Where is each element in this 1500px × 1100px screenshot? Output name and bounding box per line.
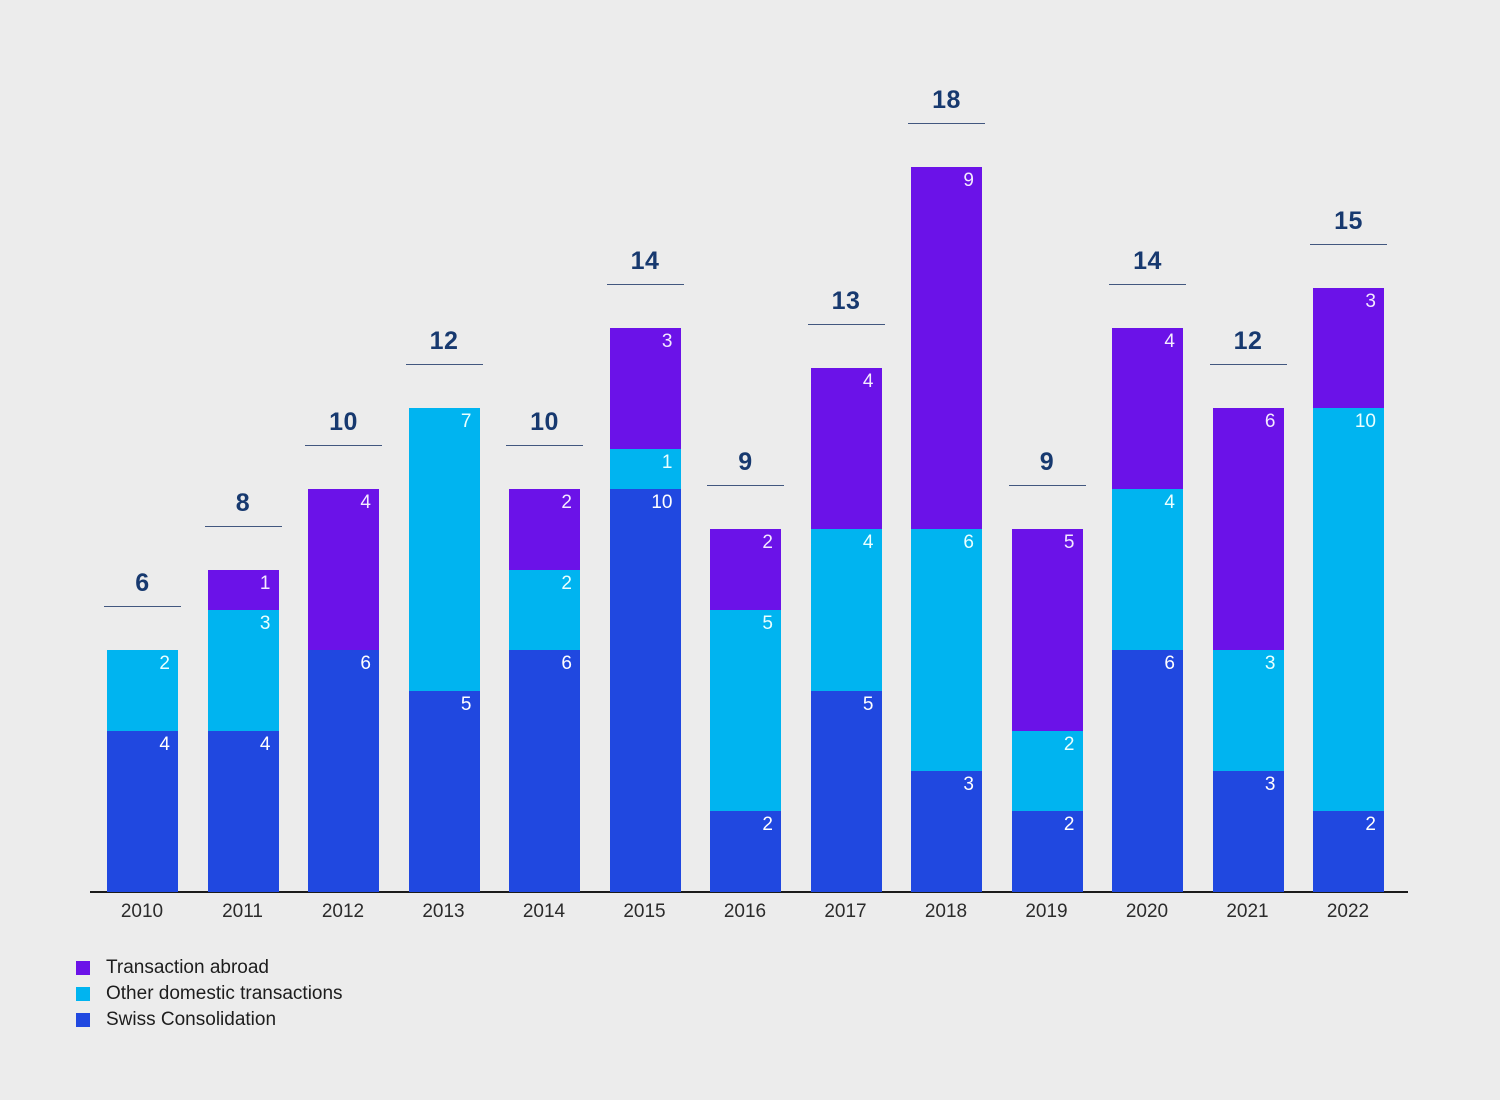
bar-segment-value: 3	[1265, 774, 1276, 796]
x-axis-tick-2013: 2013	[389, 900, 499, 924]
bar-stack: 963	[911, 167, 982, 892]
bar-segment[interactable]: 5	[710, 610, 781, 812]
legend-swatch-icon	[76, 987, 90, 1001]
bar-stack: 75	[409, 408, 480, 892]
bar-segment-value: 6	[963, 532, 974, 554]
bar-total: 9	[700, 448, 791, 486]
x-axis-tick-2020: 2020	[1092, 900, 1202, 924]
bar-segment-value: 10	[651, 492, 672, 514]
bar-segment-value: 6	[1265, 411, 1276, 433]
legend-item-2[interactable]: Swiss Consolidation	[76, 1007, 343, 1033]
bar-segment[interactable]: 6	[308, 650, 379, 892]
bar-total: 9	[1002, 448, 1093, 486]
bar-total-rule	[305, 445, 382, 446]
bar-total-rule	[1210, 364, 1287, 365]
bar-segment-value: 9	[963, 170, 974, 192]
bar-segment[interactable]: 3	[1313, 288, 1384, 409]
bar-total-value: 9	[1002, 448, 1093, 476]
bar-segment-value: 3	[1265, 653, 1276, 675]
bar-total: 10	[298, 408, 389, 446]
bar-segment[interactable]: 4	[308, 489, 379, 650]
bar-segment-value: 2	[1365, 814, 1376, 836]
bar-segment-value: 2	[159, 653, 170, 675]
bar-segment[interactable]: 2	[1012, 731, 1083, 812]
bar-total-value: 10	[499, 408, 590, 436]
legend-swatch-icon	[76, 1013, 90, 1027]
x-axis-tick-2010: 2010	[87, 900, 197, 924]
bar-segment[interactable]: 5	[409, 691, 480, 893]
bar-total-rule	[104, 606, 181, 607]
bar-stack: 3110	[610, 328, 681, 892]
legend-item-0[interactable]: Transaction abroad	[76, 955, 343, 981]
bar-segment-value: 6	[360, 653, 371, 675]
bar-total-rule	[607, 284, 684, 285]
bar-total: 12	[399, 327, 490, 365]
bar-total: 8	[198, 489, 289, 527]
bar-segment-value: 4	[260, 734, 271, 756]
bar-total-rule	[1310, 244, 1387, 245]
bar-segment[interactable]: 2	[710, 529, 781, 610]
bar-total: 12	[1203, 327, 1294, 365]
bar-group-2014[interactable]: 22610	[509, 0, 580, 935]
bar-group-2015[interactable]: 311014	[610, 0, 681, 935]
bar-segment[interactable]: 1	[610, 449, 681, 489]
bar-segment[interactable]: 4	[1112, 489, 1183, 650]
bar-total-value: 15	[1303, 207, 1394, 235]
bar-total-rule	[1009, 485, 1086, 486]
x-axis-tick-2012: 2012	[288, 900, 398, 924]
chart-legend: Transaction abroadOther domestic transac…	[76, 955, 343, 1033]
bar-stack: 522	[1012, 529, 1083, 892]
x-axis-tick-2018: 2018	[891, 900, 1001, 924]
bar-segment-value: 6	[1164, 653, 1175, 675]
bar-segment[interactable]: 10	[610, 489, 681, 892]
bar-group-2021[interactable]: 63312	[1213, 0, 1284, 935]
bar-segment-value: 4	[159, 734, 170, 756]
bar-total-value: 9	[700, 448, 791, 476]
bar-total: 14	[1102, 247, 1193, 285]
bar-group-2016[interactable]: 2529	[710, 0, 781, 935]
bar-segment[interactable]: 2	[710, 811, 781, 892]
bar-segment[interactable]: 2	[1012, 811, 1083, 892]
bar-segment-value: 5	[1064, 532, 1075, 554]
bar-segment[interactable]: 3	[1213, 650, 1284, 771]
bar-segment-value: 5	[762, 613, 773, 635]
bar-segment[interactable]: 4	[811, 368, 882, 529]
legend-label: Swiss Consolidation	[106, 1009, 276, 1031]
plot-area: 2462010134820114610201275122013226102014…	[0, 0, 1500, 935]
bar-segment[interactable]: 2	[1313, 811, 1384, 892]
bar-total-value: 10	[298, 408, 389, 436]
bar-total: 13	[801, 287, 892, 325]
bar-stack: 252	[710, 529, 781, 892]
bar-segment-value: 3	[662, 331, 673, 353]
bar-segment[interactable]: 10	[1313, 408, 1384, 811]
x-axis-tick-2016: 2016	[690, 900, 800, 924]
bar-segment-value: 4	[863, 532, 874, 554]
bar-segment-value: 5	[461, 694, 472, 716]
bar-stack: 226	[509, 489, 580, 892]
x-axis-tick-2011: 2011	[188, 900, 298, 924]
bar-total-value: 14	[1102, 247, 1193, 275]
bar-segment[interactable]: 2	[509, 570, 580, 651]
bar-segment[interactable]: 3	[911, 771, 982, 892]
bar-group-2011[interactable]: 1348	[208, 0, 279, 935]
x-axis-tick-2015: 2015	[590, 900, 700, 924]
bar-total-rule	[205, 526, 282, 527]
bar-segment[interactable]: 1	[208, 570, 279, 610]
bar-segment[interactable]: 4	[1112, 328, 1183, 489]
bar-segment[interactable]: 9	[911, 167, 982, 530]
bar-segment-value: 5	[863, 694, 874, 716]
bar-segment[interactable]: 2	[509, 489, 580, 570]
bar-segment-value: 3	[260, 613, 271, 635]
bar-segment[interactable]: 3	[1213, 771, 1284, 892]
bar-total-value: 12	[1203, 327, 1294, 355]
bar-total-value: 13	[801, 287, 892, 315]
bar-segment-value: 7	[461, 411, 472, 433]
legend-label: Transaction abroad	[106, 957, 269, 979]
bar-segment[interactable]: 5	[1012, 529, 1083, 731]
bar-segment-value: 2	[561, 573, 572, 595]
bar-group-2017[interactable]: 44513	[811, 0, 882, 935]
bar-group-2013[interactable]: 7512	[409, 0, 480, 935]
bar-segment[interactable]: 6	[1213, 408, 1284, 650]
bar-segment-value: 1	[260, 573, 271, 595]
x-axis-tick-2017: 2017	[791, 900, 901, 924]
bar-total-value: 8	[198, 489, 289, 517]
bar-segment[interactable]: 7	[409, 408, 480, 690]
legend-item-1[interactable]: Other domestic transactions	[76, 981, 343, 1007]
bar-total-value: 18	[901, 86, 992, 114]
bar-total-rule	[406, 364, 483, 365]
bar-total-value: 12	[399, 327, 490, 355]
x-axis-tick-2022: 2022	[1293, 900, 1403, 924]
bar-segment[interactable]: 3	[208, 610, 279, 731]
bar-segment[interactable]: 4	[107, 731, 178, 892]
bar-segment[interactable]: 4	[208, 731, 279, 892]
bar-total: 10	[499, 408, 590, 446]
bar-total-rule	[707, 485, 784, 486]
bar-segment-value: 2	[1064, 814, 1075, 836]
bar-group-2012[interactable]: 4610	[308, 0, 379, 935]
x-axis-tick-2014: 2014	[489, 900, 599, 924]
bar-segment[interactable]: 6	[509, 650, 580, 892]
bar-segment-value: 2	[1064, 734, 1075, 756]
bar-total-value: 6	[97, 569, 188, 597]
x-axis-tick-2021: 2021	[1193, 900, 1303, 924]
bar-total: 18	[901, 86, 992, 124]
bar-total: 15	[1303, 207, 1394, 245]
bar-segment[interactable]: 3	[610, 328, 681, 449]
bar-stack: 445	[811, 368, 882, 892]
bar-stack: 46	[308, 489, 379, 892]
bar-group-2010[interactable]: 246	[107, 0, 178, 935]
bar-segment-value: 2	[762, 814, 773, 836]
bar-segment-value: 4	[863, 371, 874, 393]
x-axis-tick-2019: 2019	[992, 900, 1102, 924]
legend-label: Other domestic transactions	[106, 983, 343, 1005]
bar-total-rule	[506, 445, 583, 446]
bar-segment-value: 3	[1365, 291, 1376, 313]
bar-segment-value: 4	[360, 492, 371, 514]
bar-group-2018[interactable]: 96318	[911, 0, 982, 935]
bar-group-2022[interactable]: 310215	[1313, 0, 1384, 935]
bar-group-2020[interactable]: 44614	[1112, 0, 1183, 935]
bar-stack: 633	[1213, 408, 1284, 892]
bar-total-rule	[1109, 284, 1186, 285]
bar-segment-value: 4	[1164, 492, 1175, 514]
bar-segment[interactable]: 5	[811, 691, 882, 893]
bar-total-value: 14	[600, 247, 691, 275]
bar-stack: 24	[107, 650, 178, 892]
bar-segment-value: 3	[963, 774, 974, 796]
bar-segment[interactable]: 4	[811, 529, 882, 690]
bar-segment-value: 1	[662, 452, 673, 474]
bar-total: 6	[97, 569, 188, 607]
bar-stack: 3102	[1313, 288, 1384, 892]
bar-segment-value: 4	[1164, 331, 1175, 353]
bar-segment[interactable]: 2	[107, 650, 178, 731]
bar-segment-value: 2	[561, 492, 572, 514]
bar-stack: 134	[208, 570, 279, 892]
bar-segment-value: 6	[561, 653, 572, 675]
bar-total: 14	[600, 247, 691, 285]
bar-segment[interactable]: 6	[1112, 650, 1183, 892]
bar-segment-value: 2	[762, 532, 773, 554]
legend-swatch-icon	[76, 961, 90, 975]
bar-segment-value: 10	[1355, 411, 1376, 433]
bar-group-2019[interactable]: 5229	[1012, 0, 1083, 935]
stacked-bar-chart: 2462010134820114610201275122013226102014…	[0, 0, 1500, 1100]
bar-stack: 446	[1112, 328, 1183, 892]
bar-total-rule	[808, 324, 885, 325]
bar-total-rule	[908, 123, 985, 124]
bar-segment[interactable]: 6	[911, 529, 982, 771]
